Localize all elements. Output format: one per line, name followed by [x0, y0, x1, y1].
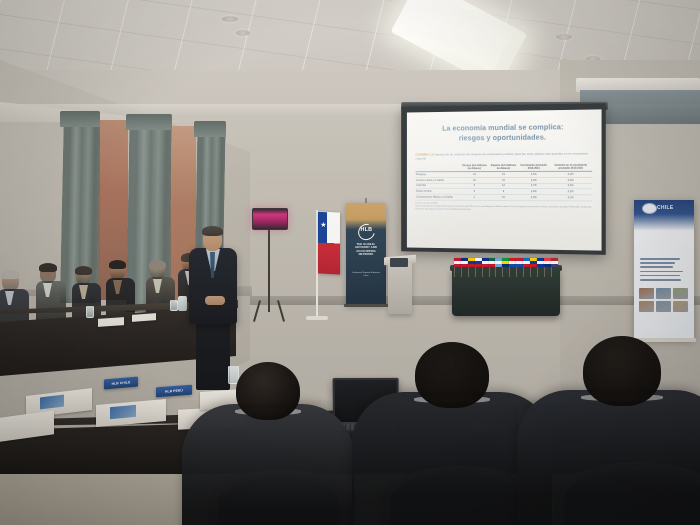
attendee-hair: [1, 270, 20, 279]
banner-service-lines: [640, 258, 688, 283]
banner-text-line: [640, 275, 680, 277]
attendee-hair: [75, 266, 92, 275]
country-flag: [468, 258, 475, 267]
flag-pole-small: [523, 267, 524, 277]
country-flag: [475, 258, 482, 267]
banner-photo-cell: [656, 288, 671, 299]
country-flag-row: [454, 259, 558, 269]
hlb-logo: HLB: [352, 224, 380, 238]
attendee-head-back: [415, 342, 489, 408]
hlb-subtext: Conferencia Regional de América Latina: [351, 272, 381, 277]
country-flag: [530, 258, 537, 267]
flag-pole-small: [530, 267, 531, 277]
banner-text-line: [640, 279, 681, 281]
banner-logo-text: CHILE: [657, 205, 674, 211]
water-glass: [170, 300, 178, 311]
country-flag: [482, 258, 489, 267]
chilean-flag-star: ★: [320, 222, 326, 229]
flag-pole-small: [489, 267, 490, 277]
flag-pole-small: [482, 267, 483, 277]
led-speaker-box: [252, 208, 288, 230]
flag-pole-small: [461, 267, 462, 277]
attendee-shoulders: [517, 390, 700, 525]
flag-pole-small: [516, 267, 517, 277]
banner-text-line: [640, 266, 673, 268]
banner-photo-cell: [673, 301, 688, 312]
flag-pole-small: [551, 267, 552, 277]
flag-pole-small: [537, 267, 538, 277]
speaker-stand-pole: [268, 228, 270, 312]
attendee-shoulders: [182, 404, 355, 525]
water-pitcher: [178, 296, 187, 311]
flag-table-skirt: [452, 268, 560, 316]
lectern: [388, 262, 412, 314]
country-flag: [544, 258, 551, 267]
screen-glare: [407, 109, 602, 250]
flag-pole-small: [544, 267, 545, 277]
curtain-header: [126, 114, 172, 130]
curtain-header: [194, 121, 226, 137]
country-flag: [461, 258, 468, 267]
lectern-laptop: [390, 258, 408, 267]
banner-text-line: [640, 262, 675, 264]
banner-text-line: [640, 271, 683, 273]
flag-stand-base: [306, 316, 328, 320]
country-flag: [523, 258, 530, 267]
water-glass: [86, 306, 94, 318]
handout-image: [110, 405, 136, 419]
banner-text-line: [640, 258, 680, 260]
banner-photo-cell: [639, 301, 654, 312]
ceiling-downlight: [556, 34, 572, 40]
presenter-hair: [202, 226, 223, 236]
curtain-header: [60, 111, 100, 127]
flag-pole-small: [495, 267, 496, 277]
presenter-legs: [196, 320, 230, 390]
ceiling-downlight: [222, 16, 238, 22]
country-flag: [537, 258, 544, 267]
placard-label: HLB PERÚ: [165, 388, 183, 393]
attendee-head-back: [236, 362, 300, 420]
banner-photo-cell: [639, 288, 654, 299]
banner-base-left: [344, 304, 388, 307]
flag-pole-small: [509, 267, 510, 277]
conference-room-photo: La economía mundial se complica: riesgos…: [0, 0, 700, 525]
hlb-logo-text: HLB: [361, 227, 373, 233]
flag-pole-small: [475, 267, 476, 277]
projector-screen: La economía mundial se complica: riesgos…: [407, 109, 602, 250]
placard-label: HLB CHILE: [112, 380, 131, 386]
attendee-head-back: [583, 336, 661, 406]
flag-pole-small: [502, 267, 503, 277]
banner-photo-cell: [673, 288, 688, 299]
ceiling-downlight: [236, 30, 250, 36]
flag-pole-small: [454, 267, 455, 277]
attendee-hair: [39, 263, 57, 272]
banner-logo-badge: [642, 203, 657, 214]
flag-pole-small: [468, 267, 469, 277]
banner-photo-cell: [656, 301, 671, 312]
country-flag: [454, 258, 461, 267]
attendee-hair: [149, 260, 166, 269]
hlb-tagline: THE GLOBAL ADVISORY AND ACCOUNTING NETWO…: [349, 243, 383, 257]
presenter-hands: [205, 296, 225, 305]
attendee-hair: [109, 260, 126, 269]
country-flag: [551, 258, 558, 267]
banner-right-logo: CHILE: [642, 203, 686, 213]
banner-photo-grid: [639, 288, 689, 312]
